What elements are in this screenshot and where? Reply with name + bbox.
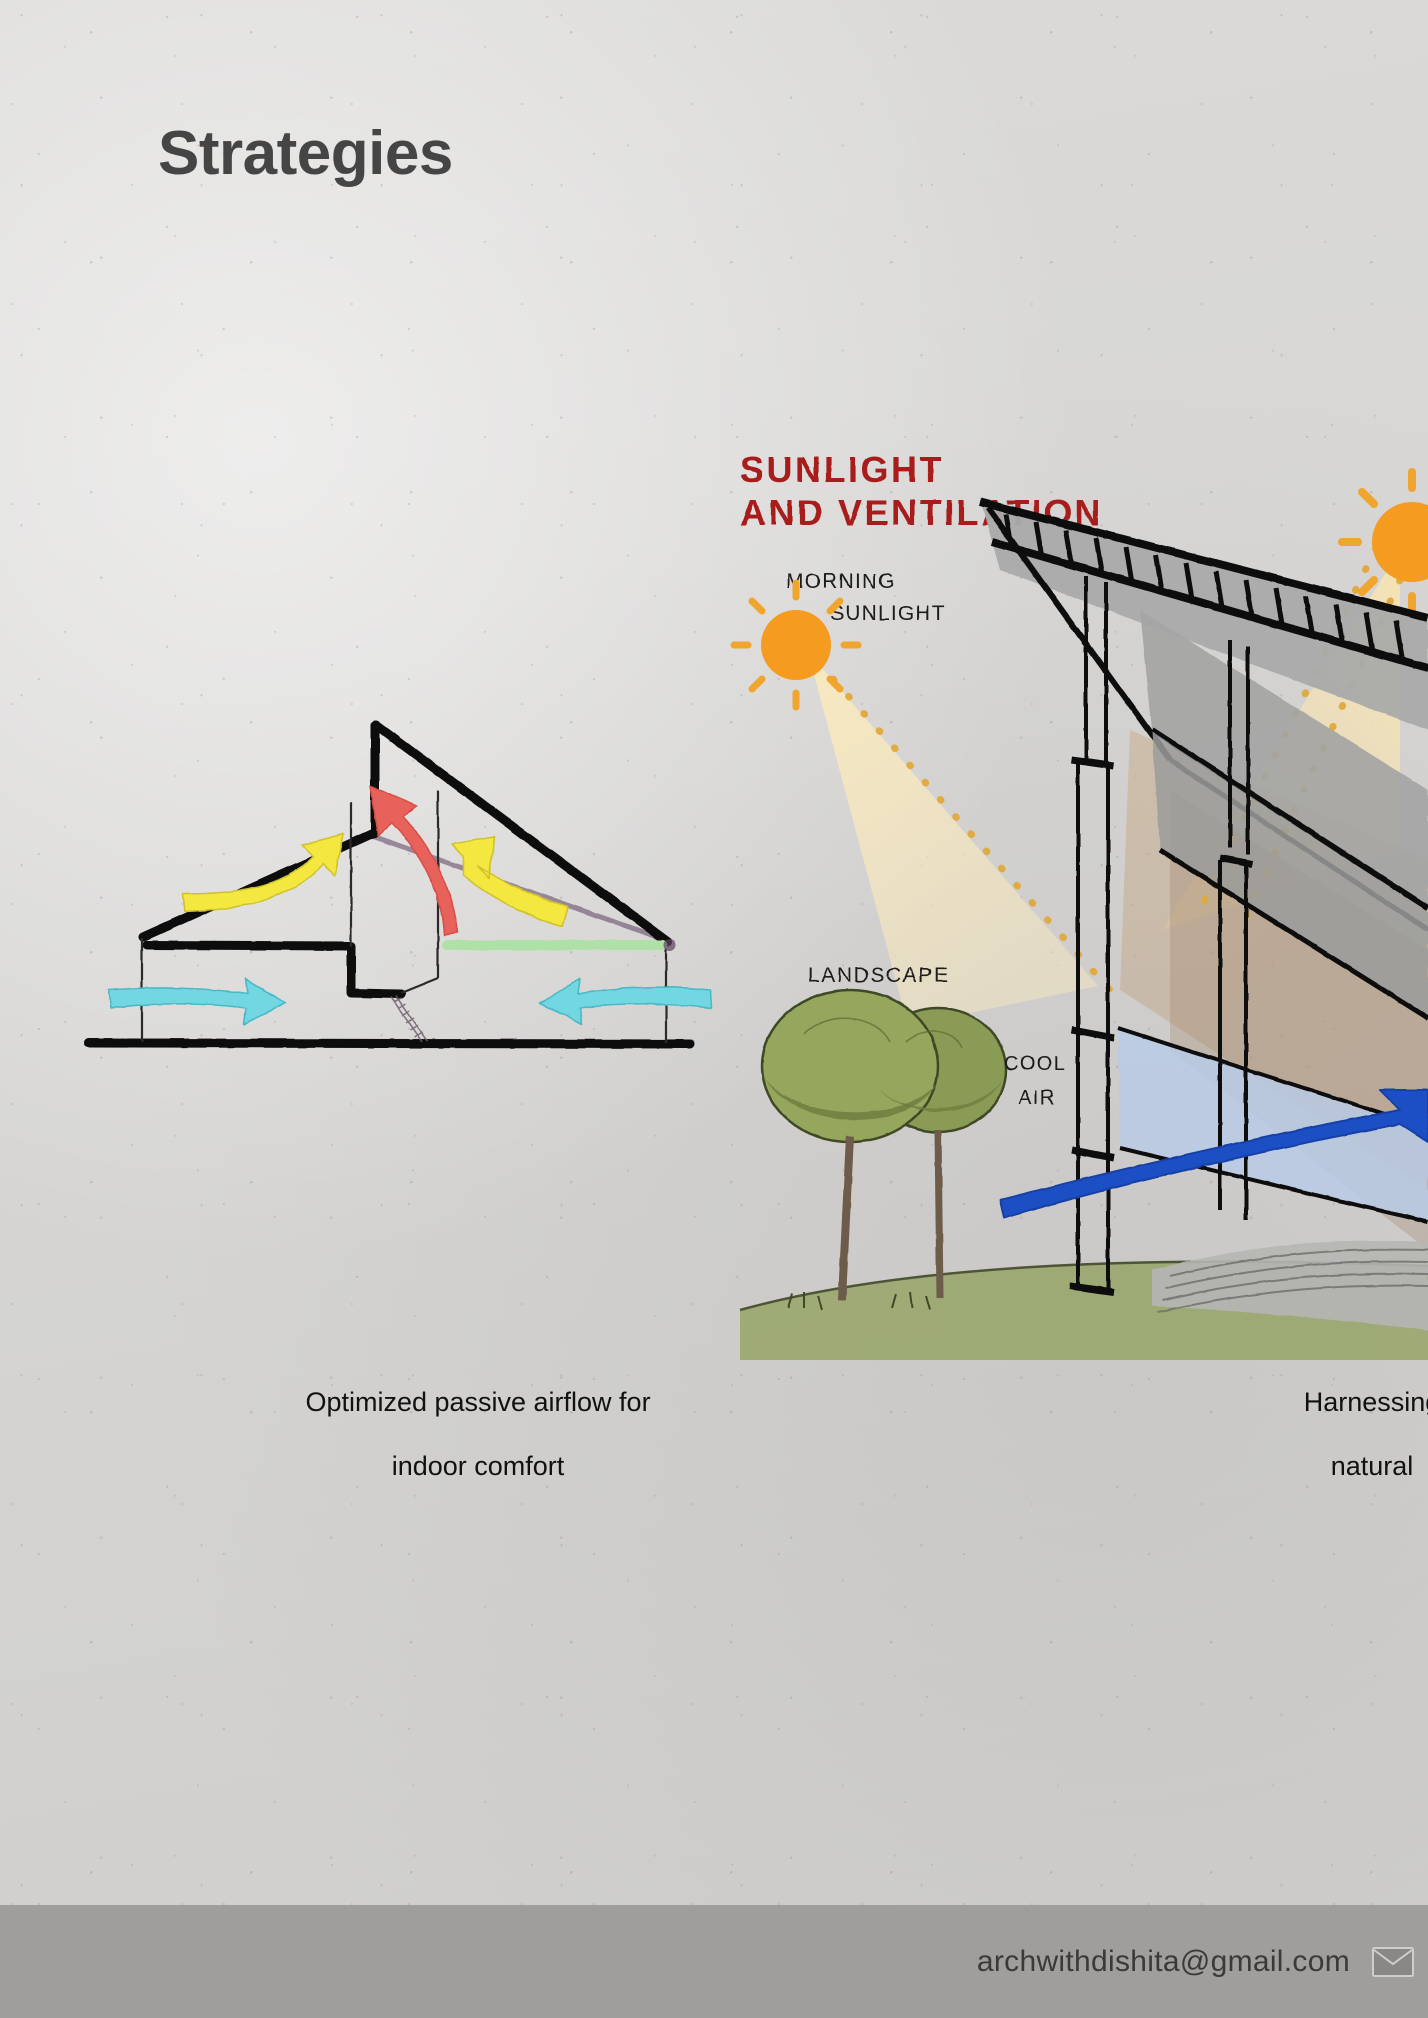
caption-sunlight-line-2: natural <box>1002 1434 1428 1498</box>
ventilation-section-diagram <box>70 690 750 1110</box>
stair-hatch <box>391 996 427 1042</box>
mezzanine-floor-green <box>442 940 668 950</box>
cool-air-label: COOL AIR <box>1004 1053 1066 1109</box>
page-title: Strategies <box>158 118 453 189</box>
tree-cluster <box>762 990 1006 1310</box>
cool-air-arrow-right <box>540 979 711 1024</box>
landscape-label: LANDSCAPE <box>808 964 950 987</box>
cool-air-arrow-left <box>109 979 286 1024</box>
slide-canvas: Strategies <box>0 0 1428 2018</box>
morning-sunlight-line-1: MORNING <box>786 570 896 593</box>
sun-icon-morning <box>734 583 858 707</box>
morning-sunlight-line-2: SUNLIGHT <box>830 602 946 625</box>
envelope-icon[interactable] <box>1372 1947 1414 1977</box>
cool-air-line-1: COOL <box>1004 1053 1066 1075</box>
mezzanine-floor-left <box>147 945 350 946</box>
cool-air-line-2: AIR <box>1018 1087 1056 1109</box>
footer-bar: archwithdishita@gmail.com <box>0 1905 1428 2018</box>
caption-ventilation-line-2: indoor comfort <box>108 1434 848 1498</box>
sunlight-ventilation-diagram: SUNLIGHT AND VENTILATION MORNING SUNLIGH… <box>700 430 1428 1360</box>
caption-sunlight-line-1: Harnessing <box>1002 1370 1428 1434</box>
core-step <box>351 946 401 994</box>
svg-text:LANDSCAPE: LANDSCAPE <box>808 964 950 987</box>
caption-sunlight: Harnessing natural <box>1002 1370 1428 1498</box>
caption-ventilation: Optimized passive airflow for indoor com… <box>108 1370 848 1498</box>
caption-ventilation-line-1: Optimized passive airflow for <box>108 1370 848 1434</box>
ground-line <box>88 1043 690 1044</box>
warm-air-arrow-left <box>183 834 343 912</box>
heading-line-1: SUNLIGHT <box>740 449 944 490</box>
core-bevel <box>401 978 438 993</box>
contact-email[interactable]: archwithdishita@gmail.com <box>977 1945 1350 1979</box>
